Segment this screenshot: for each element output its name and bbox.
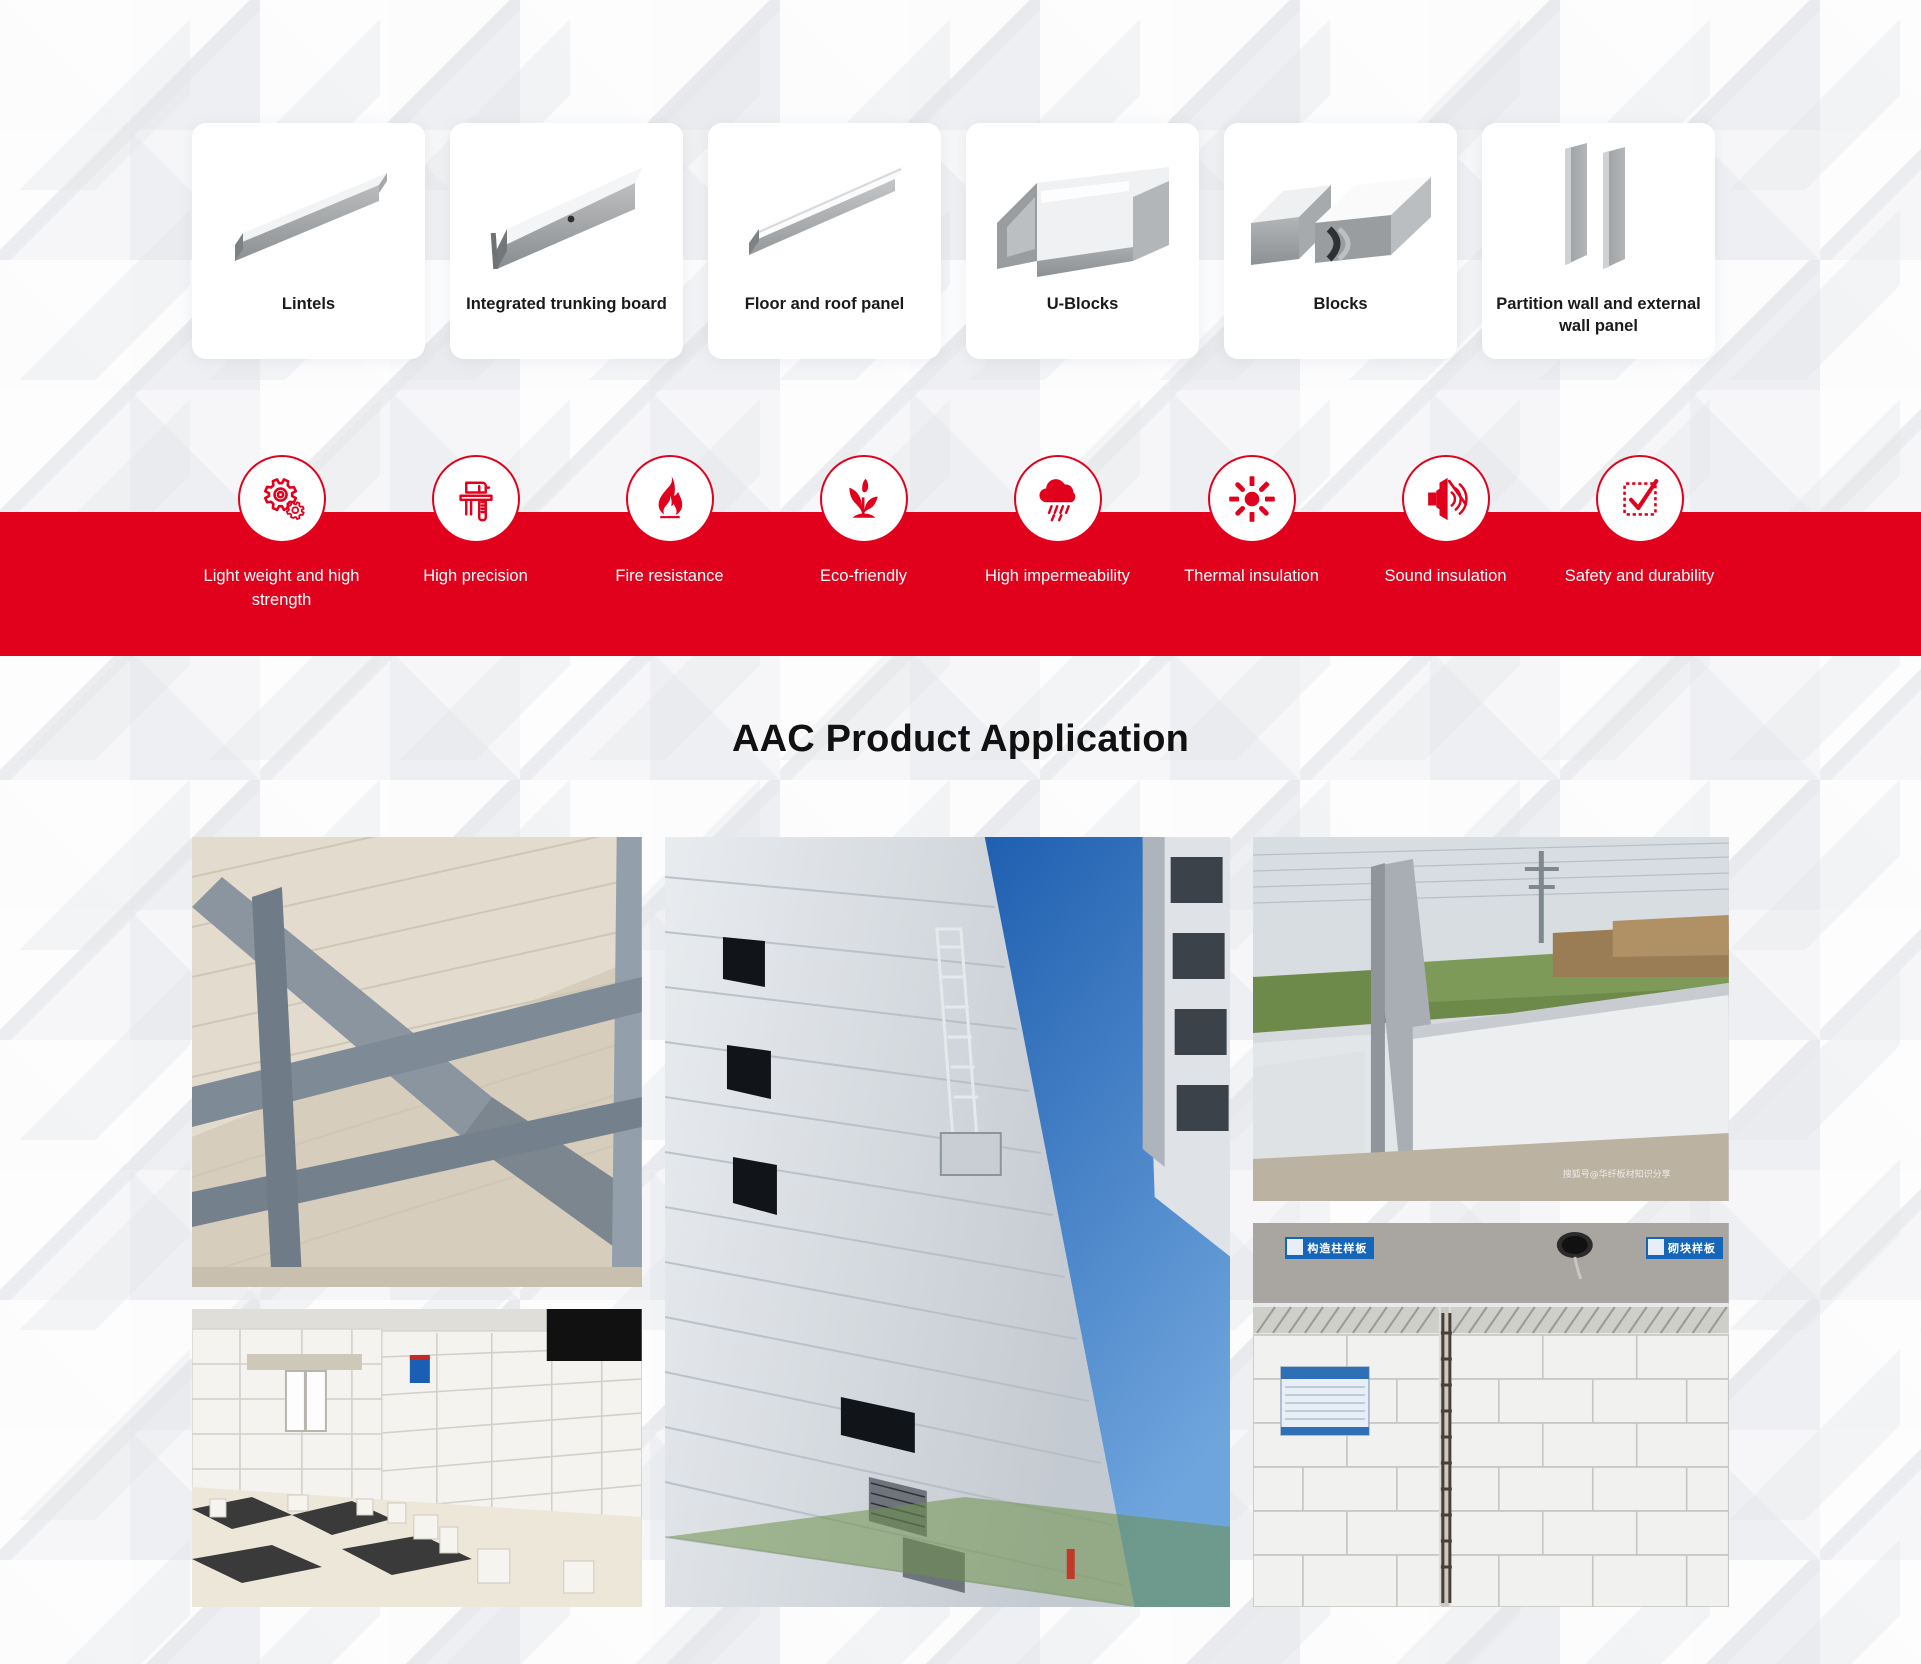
feature-icon-wrapper	[1208, 455, 1296, 543]
feature-label: Safety and durability	[1565, 565, 1715, 589]
partition-panel-icon	[1499, 137, 1699, 287]
feature-label: Sound insulation	[1384, 565, 1506, 589]
sample-sign-left: 构造柱样板	[1285, 1237, 1374, 1259]
product-card-integrated-trunking-board[interactable]: Integrated trunking board	[450, 123, 683, 359]
feature-icon-wrapper	[1402, 455, 1490, 543]
feature-sound-insulation[interactable]: Sound insulation	[1349, 455, 1543, 613]
page-root: Lintels Integrated trunking board	[0, 0, 1921, 1664]
product-card-label: Floor and roof panel	[733, 293, 917, 315]
feature-label: Eco-friendly	[820, 565, 907, 589]
gallery-column-left	[192, 837, 642, 1607]
feature-icon-wrapper	[820, 455, 908, 543]
lintel-beam-icon	[209, 137, 409, 287]
u-block-icon	[983, 137, 1183, 287]
feature-icon-wrapper	[1596, 455, 1684, 543]
product-card-blocks[interactable]: Blocks	[1224, 123, 1457, 359]
rain-cloud-icon	[1032, 473, 1084, 525]
feature-thermal-insulation[interactable]: Thermal insulation	[1155, 455, 1349, 613]
gallery-column-middle	[665, 837, 1231, 1607]
product-card-strip: Lintels Integrated trunking board	[192, 123, 1715, 359]
feature-icon-wrapper	[626, 455, 714, 543]
photo-aac-panel-building-facade[interactable]	[665, 837, 1231, 1607]
feature-label: Thermal insulation	[1184, 565, 1319, 589]
product-card-label: Lintels	[270, 293, 347, 315]
photo-masonry-sample-wall[interactable]: 构造柱样板 砌块样板	[1253, 1223, 1729, 1607]
photo-precast-wall-panel-site[interactable]: 搜狐号@华纤板材知识分享	[1253, 837, 1729, 1201]
muted-speaker-icon	[1420, 473, 1472, 525]
feature-icon-wrapper	[432, 455, 520, 543]
sprout-icon	[838, 473, 890, 525]
product-card-lintels[interactable]: Lintels	[192, 123, 425, 359]
feature-fire-resistance[interactable]: Fire resistance	[573, 455, 767, 613]
sample-sign-right: 砌块样板	[1646, 1237, 1723, 1259]
application-photo-gallery: 搜狐号@华纤板材知识分享	[192, 837, 1729, 1607]
feature-high-impermeability[interactable]: High impermeability	[961, 455, 1155, 613]
feature-light-weight-and-high-strength[interactable]: Light weight and high strength	[185, 455, 379, 613]
flame-icon	[644, 473, 696, 525]
product-card-label: Partition wall and external wall panel	[1482, 293, 1715, 338]
product-card-label: Blocks	[1301, 293, 1379, 315]
feature-list: Light weight and high strength High pr	[0, 455, 1921, 613]
product-card-floor-and-roof-panel[interactable]: Floor and roof panel	[708, 123, 941, 359]
trunking-board-icon	[467, 137, 667, 287]
feature-label: High impermeability	[985, 565, 1130, 589]
feature-icon-wrapper	[1014, 455, 1102, 543]
block-icon	[1241, 137, 1441, 287]
feature-eco-friendly[interactable]: Eco-friendly	[767, 455, 961, 613]
checkbox-check-icon	[1614, 473, 1666, 525]
product-card-partition-wall-and-external-wall-panel[interactable]: Partition wall and external wall panel	[1482, 123, 1715, 359]
caliper-icon	[450, 473, 502, 525]
feature-high-precision[interactable]: High precision	[379, 455, 573, 613]
feature-label: Light weight and high strength	[193, 565, 371, 613]
sun-icon	[1226, 473, 1278, 525]
product-card-u-blocks[interactable]: U-Blocks	[966, 123, 1199, 359]
gallery-column-right: 搜狐号@华纤板材知识分享	[1253, 837, 1729, 1607]
photo-aac-block-interior-room-with-tv[interactable]	[192, 1309, 642, 1607]
feature-label: High precision	[423, 565, 528, 589]
floor-roof-panel-icon	[725, 137, 925, 287]
svg-text:搜狐号@华纤板材知识分享: 搜狐号@华纤板材知识分享	[1563, 1168, 1671, 1180]
product-card-label: U-Blocks	[1035, 293, 1131, 315]
product-card-label: Integrated trunking board	[454, 293, 679, 315]
photo-steel-structure-roof-panel-interior[interactable]	[192, 837, 642, 1287]
feature-safety-and-durability[interactable]: Safety and durability	[1543, 455, 1737, 613]
feature-icon-wrapper	[238, 455, 326, 543]
feature-label: Fire resistance	[615, 565, 723, 589]
gears-icon	[256, 473, 308, 525]
page-title: AAC Product Application	[0, 718, 1921, 761]
